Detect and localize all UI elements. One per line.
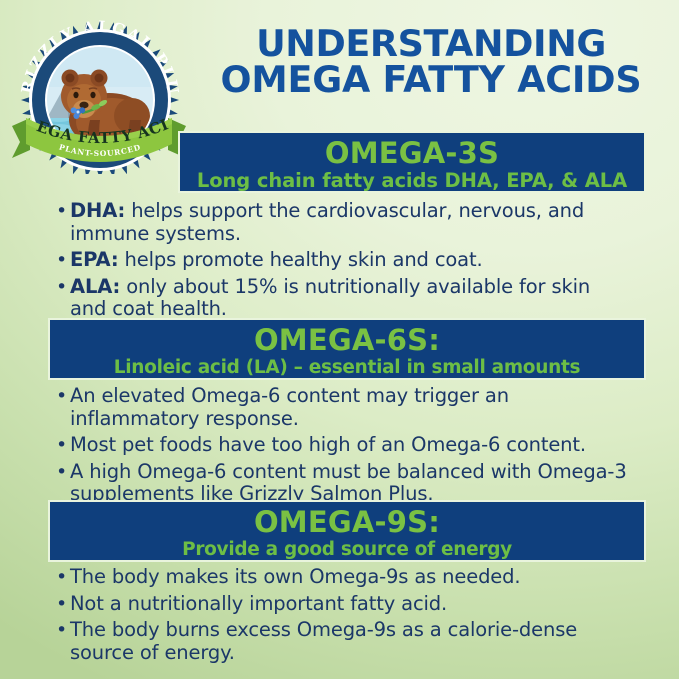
list-item: • Most pet foods have too high of an Ome… <box>56 434 636 457</box>
bullet-marker-icon: • <box>56 566 70 589</box>
grizzly-algal-plus-logo: GRIZZLY ALGAL PLUS OMEGA FATTY ACIDS PLA… <box>8 8 190 174</box>
page-title-line2: OMEGA FATTY ACIDS <box>196 62 666 98</box>
section-banner-omega6: OMEGA-6S: Linoleic acid (LA) – essential… <box>48 318 646 380</box>
list-item: • The body makes its own Omega-9s as nee… <box>56 566 636 589</box>
section-heading-omega3: OMEGA-3S <box>180 137 644 169</box>
section-subheading-omega6: Linoleic acid (LA) – essential in small … <box>50 356 644 380</box>
infographic-page: GRIZZLY ALGAL PLUS OMEGA FATTY ACIDS PLA… <box>0 0 679 679</box>
bullet-list-omega6: • An elevated Omega-6 content may trigge… <box>56 385 636 510</box>
list-item-text: An elevated Omega-6 content may trigger … <box>70 385 636 430</box>
bullet-marker-icon: • <box>56 249 70 272</box>
section-heading-omega6: OMEGA-6S: <box>50 324 644 356</box>
page-title-line1: UNDERSTANDING <box>196 26 666 62</box>
list-item-body: helps promote healthy skin and coat. <box>118 248 482 271</box>
list-item-body: helps support the cardiovascular, nervou… <box>70 199 584 245</box>
page-title: UNDERSTANDING OMEGA FATTY ACIDS <box>196 26 666 98</box>
list-item-text: Not a nutritionally important fatty acid… <box>70 593 636 616</box>
section-heading-omega9: OMEGA-9S: <box>50 506 644 538</box>
list-item-text: The body burns excess Omega-9s as a calo… <box>70 619 636 664</box>
bullet-marker-icon: • <box>56 434 70 457</box>
section-subheading-omega3: Long chain fatty acids DHA, EPA, & ALA <box>180 169 644 193</box>
section-banner-omega9: OMEGA-9S: Provide a good source of energ… <box>48 500 646 562</box>
section-banner-omega3: OMEGA-3S Long chain fatty acids DHA, EPA… <box>178 131 646 193</box>
list-item: • Not a nutritionally important fatty ac… <box>56 593 636 616</box>
list-item-label: ALA: <box>70 275 120 298</box>
list-item-label: EPA: <box>70 248 118 271</box>
bullet-marker-icon: • <box>56 276 70 299</box>
list-item: • A high Omega-6 content must be balance… <box>56 461 636 506</box>
section-subheading-omega9: Provide a good source of energy <box>50 538 644 562</box>
list-item-text: A high Omega-6 content must be balanced … <box>70 461 636 506</box>
list-item-text: DHA: helps support the cardiovascular, n… <box>70 200 628 245</box>
bullet-marker-icon: • <box>56 461 70 484</box>
list-item-text: The body makes its own Omega-9s as neede… <box>70 566 636 589</box>
list-item: • An elevated Omega-6 content may trigge… <box>56 385 636 430</box>
list-item-text: Most pet foods have too high of an Omega… <box>70 434 636 457</box>
bullet-marker-icon: • <box>56 593 70 616</box>
list-item: • DHA: helps support the cardiovascular,… <box>56 200 628 245</box>
bullet-marker-icon: • <box>56 619 70 642</box>
list-item: • The body burns excess Omega-9s as a ca… <box>56 619 636 664</box>
list-item-label: DHA: <box>70 199 125 222</box>
bullet-list-omega3: • DHA: helps support the cardiovascular,… <box>56 200 628 325</box>
list-item-text: ALA: only about 15% is nutritionally ava… <box>70 276 628 321</box>
bullet-list-omega9: • The body makes its own Omega-9s as nee… <box>56 566 636 668</box>
bullet-marker-icon: • <box>56 200 70 223</box>
list-item: • EPA: helps promote healthy skin and co… <box>56 249 628 272</box>
bullet-marker-icon: • <box>56 385 70 408</box>
logo-badge-icon: GRIZZLY ALGAL PLUS OMEGA FATTY ACIDS PLA… <box>8 8 190 174</box>
list-item-body: only about 15% is nutritionally availabl… <box>70 275 590 321</box>
list-item: • ALA: only about 15% is nutritionally a… <box>56 276 628 321</box>
list-item-text: EPA: helps promote healthy skin and coat… <box>70 249 628 272</box>
